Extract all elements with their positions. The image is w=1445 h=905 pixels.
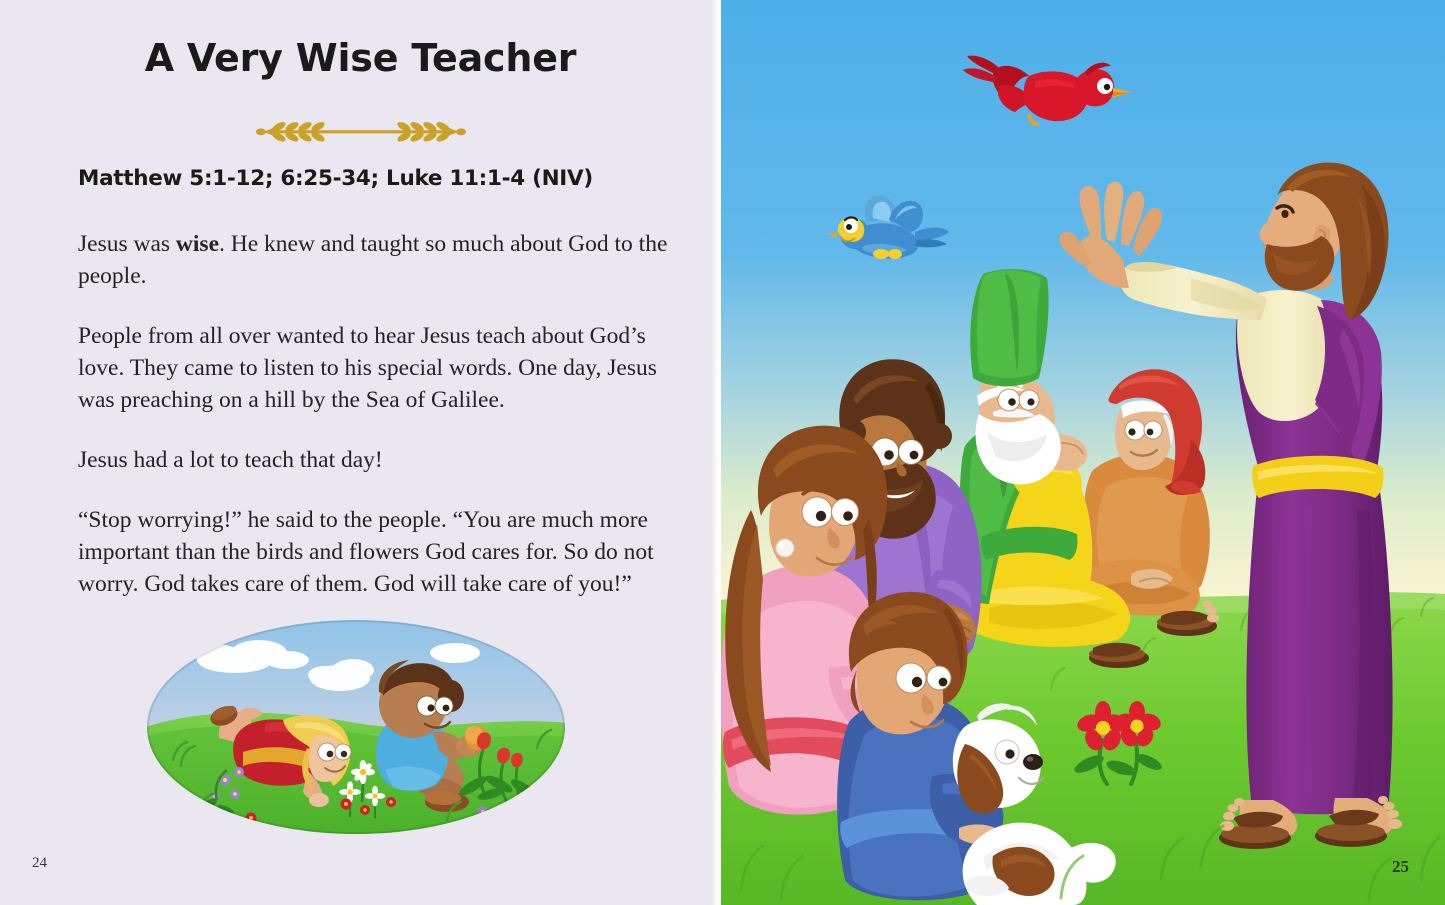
story-paragraph-4: “Stop worrying!” he said to the people. … <box>78 504 670 600</box>
para1-bold-word: wise <box>176 231 219 257</box>
story-paragraph-2: People from all over wanted to hear Jesu… <box>78 320 670 416</box>
scripture-reference: Matthew 5:1-12; 6:25-34; Luke 11:1-4 (NI… <box>78 166 678 191</box>
jesus-teaching-crowd-illustration <box>721 0 1445 905</box>
laurel-arrow-divider-icon <box>0 112 721 152</box>
right-page: 25 <box>721 0 1445 905</box>
story-body: Jesus was wise. He knew and taught so mu… <box>78 228 670 600</box>
story-paragraph-3: Jesus had a lot to teach that day! <box>78 444 670 476</box>
story-paragraph-1: Jesus was wise. He knew and taught so mu… <box>78 228 670 292</box>
page-number-right: 25 <box>1392 857 1409 877</box>
page-number-left: 24 <box>32 855 47 872</box>
para1-before: Jesus was <box>78 231 176 257</box>
book-spread: A Very Wise Teacher <box>0 0 1445 905</box>
page-title: A Very Wise Teacher <box>0 36 721 80</box>
oval-vignette-illustration <box>147 620 565 835</box>
left-page: A Very Wise Teacher <box>0 0 721 905</box>
